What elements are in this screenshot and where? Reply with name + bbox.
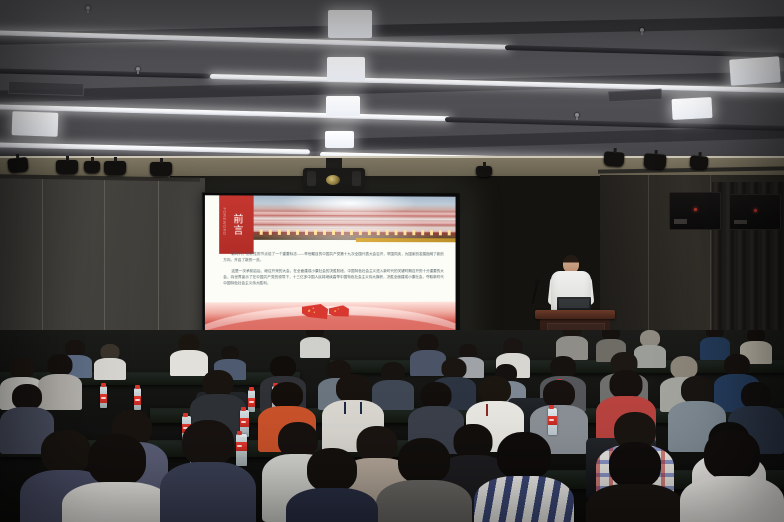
head: [550, 356, 576, 378]
sprinkler-head: [640, 28, 644, 32]
ceiling-panel-light: [328, 10, 372, 38]
torso: [300, 337, 330, 358]
slide-banner-title: 前言: [231, 214, 242, 236]
water-bottle: [248, 390, 255, 412]
head: [271, 382, 303, 409]
audience-member: [680, 430, 784, 522]
ceiling-panel-light: [327, 57, 365, 81]
audience-member: [160, 420, 256, 522]
speaker-grille: [734, 220, 747, 225]
stage-spotlight: [476, 166, 492, 177]
projector-side-vent: [352, 171, 361, 186]
laptop-screen: [559, 299, 589, 308]
head: [381, 362, 405, 382]
torso: [586, 484, 684, 522]
stage-spotlight: [150, 162, 172, 176]
red-flag-icon: ★ ★ ★: [302, 304, 328, 319]
sprinkler-head: [86, 6, 90, 10]
slide-body-text: 新时代，历史性的节点给了一个重要标志——举世瞩目的中国共产党第十九次全国代表大会…: [223, 251, 444, 291]
audience-member: [300, 330, 330, 358]
stage-spotlight: [104, 161, 126, 175]
head: [704, 430, 760, 480]
podium-top: [535, 310, 615, 319]
projection-screen: FOREWORD 前言 新时代，历史性的节点给了一个重要标志——举世瞩目的中国共…: [202, 192, 459, 346]
audience-seating: [0, 330, 784, 522]
presentation-slide: FOREWORD 前言 新时代，历史性的节点给了一个重要标志——举世瞩目的中国共…: [205, 195, 456, 342]
water-bottle: [548, 408, 557, 435]
head: [307, 448, 357, 492]
torso: [680, 476, 784, 522]
conference-hall-photo: FOREWORD 前言 新时代，历史性的节点给了一个重要标志——举世瞩目的中国共…: [0, 0, 784, 522]
wall-speaker: [729, 194, 781, 230]
head: [336, 374, 370, 403]
slide-flag-graphic: ★ ★ ★ ★ ★: [302, 304, 358, 320]
audience-member: [376, 438, 472, 522]
stage-spotlight: [604, 151, 625, 166]
head: [398, 438, 450, 484]
speaker-power-led: [754, 209, 757, 212]
head: [442, 358, 467, 379]
water-bottle: [134, 388, 141, 410]
slide-header-photo: [241, 195, 455, 240]
ceiling-projector: [303, 168, 365, 190]
audience-member: [94, 344, 126, 380]
torso: [286, 488, 378, 522]
audience-member: [586, 442, 684, 522]
head: [48, 354, 73, 376]
ceiling-strip-light: [505, 45, 784, 58]
ceiling-strip-light: [0, 68, 210, 79]
ceiling-air-vent: [8, 81, 84, 97]
ceiling: [0, 0, 784, 175]
projector-lens-icon: [326, 175, 340, 185]
head: [88, 434, 146, 486]
head: [610, 370, 643, 399]
red-flag-icon: ★ ★: [328, 305, 349, 318]
torso: [62, 482, 172, 522]
sprinkler-head: [575, 113, 579, 117]
ceiling-panel-light: [671, 97, 712, 120]
photo-stage-lights: [241, 230, 455, 236]
head: [609, 442, 661, 488]
head: [203, 370, 234, 397]
ceiling-panel-light: [325, 131, 354, 148]
slide-title-banner: FOREWORD 前言: [219, 195, 253, 254]
head: [543, 380, 575, 408]
ceiling-panel-light: [326, 96, 360, 116]
slide-paragraph: 新时代，历史性的节点给了一个重要标志——举世瞩目的中国共产党第十九次全国代表大会…: [223, 251, 444, 263]
stage-spotlight: [84, 161, 100, 173]
head: [10, 358, 34, 379]
slide-gold-accent-bar: [356, 238, 456, 242]
lanyard: [360, 402, 362, 414]
speaker-grille: [674, 219, 687, 224]
ceiling-air-vent: [608, 89, 663, 103]
head: [724, 354, 750, 376]
torso: [376, 480, 472, 522]
slide-banner-subtitle: FOREWORD: [222, 207, 227, 235]
head: [497, 432, 551, 480]
water-bottle: [100, 386, 107, 408]
head: [741, 382, 771, 409]
slide-paragraph: 这是一次承前启后、继往开来的大会，在全面建成小康社会的决胜阶段、中国特色社会主义…: [223, 268, 444, 286]
lanyard: [344, 402, 346, 414]
stage-spotlight: [644, 153, 667, 169]
lanyard: [486, 404, 488, 416]
head: [479, 376, 511, 404]
audience-member: [286, 448, 378, 522]
wall-speaker: [669, 192, 721, 230]
ceiling-strip-light: [445, 117, 784, 131]
ceiling-panel-light: [729, 56, 781, 85]
torso: [160, 462, 256, 522]
stage-spotlight: [56, 160, 78, 174]
stage-spotlight: [7, 157, 28, 173]
projector-side-vent: [307, 171, 316, 186]
head: [681, 376, 713, 404]
stage-spotlight: [690, 155, 709, 169]
audience-member: [62, 434, 172, 522]
torso: [474, 476, 574, 522]
audience-member: [474, 432, 574, 522]
ceiling-strip-light: [0, 104, 450, 121]
sprinkler-head: [136, 67, 140, 71]
torso: [94, 358, 126, 380]
head: [270, 356, 296, 378]
ceiling-panel-light: [12, 111, 59, 137]
head: [182, 420, 234, 466]
head: [421, 382, 452, 409]
speaker-power-led: [694, 208, 697, 211]
